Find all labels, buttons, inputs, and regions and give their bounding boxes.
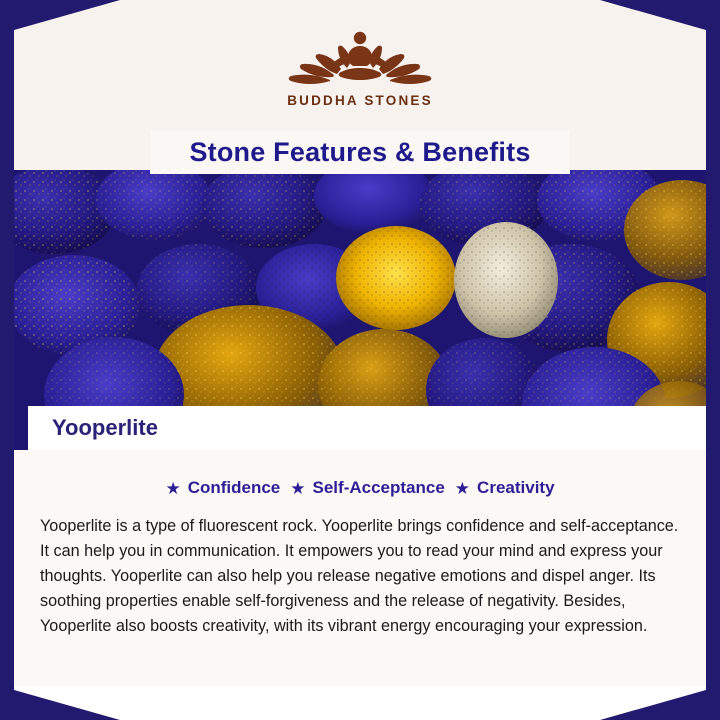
stone-name: Yooperlite <box>52 415 158 441</box>
page-title: Stone Features & Benefits <box>189 137 530 168</box>
hero-image: Yooperlite <box>14 170 706 450</box>
description-panel: ★ Confidence ★ Self-Acceptance ★ Creativ… <box>14 450 706 686</box>
star-icon: ★ <box>290 480 305 497</box>
star-icon: ★ <box>455 480 470 497</box>
page-title-band: Stone Features & Benefits <box>150 130 570 174</box>
hero-caption: Yooperlite <box>28 406 706 450</box>
lotus-meditation-icon <box>285 24 435 90</box>
poster-page: BUDDHA STONES <box>0 0 720 720</box>
keyword-confidence: ★ Confidence <box>165 478 280 498</box>
keyword-creativity: ★ Creativity <box>455 478 555 498</box>
description-text: Yooperlite is a type of fluorescent rock… <box>38 514 682 639</box>
corner-top-left <box>0 0 120 34</box>
frame-right-bar <box>706 0 720 720</box>
keyword-label: Creativity <box>477 478 554 498</box>
frame-left-bar <box>0 0 14 720</box>
keyword-label: Self-Acceptance <box>313 478 445 498</box>
keyword-label: Confidence <box>188 478 281 498</box>
corner-bottom-right <box>600 686 720 720</box>
corner-bottom-left <box>0 686 120 720</box>
keyword-list: ★ Confidence ★ Self-Acceptance ★ Creativ… <box>38 478 682 498</box>
star-icon: ★ <box>165 480 180 497</box>
keyword-self-acceptance: ★ Self-Acceptance <box>290 478 445 498</box>
brand-name: BUDDHA STONES <box>287 93 433 108</box>
corner-top-right <box>600 0 720 34</box>
